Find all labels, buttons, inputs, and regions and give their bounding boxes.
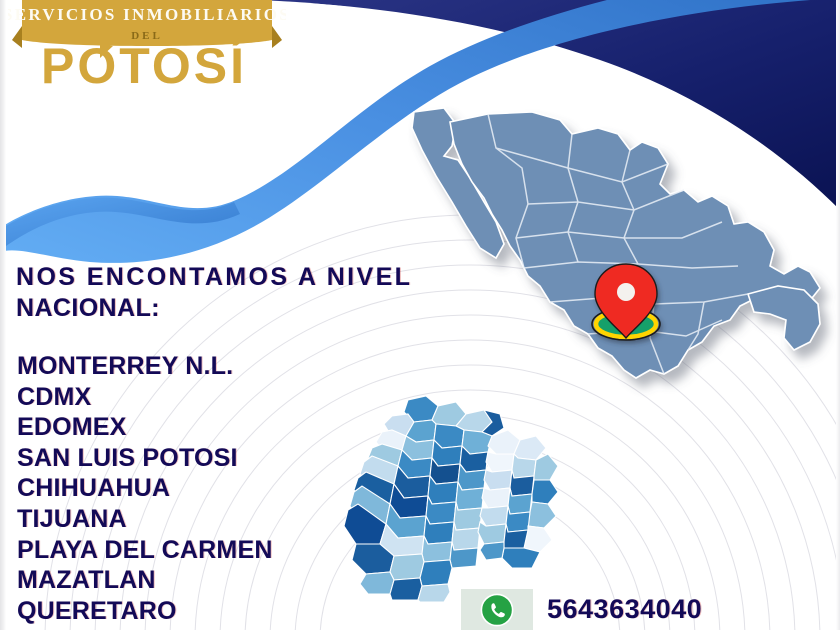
headline-line-1: NOS ENCONTAMOS A NIVEL	[16, 262, 412, 293]
city-list-item: EDOMEX	[17, 412, 273, 443]
logo-ribbon-fold-right	[272, 26, 282, 48]
page-left-edge	[0, 0, 6, 630]
logo-ribbon-fold-left	[12, 26, 22, 48]
logo-name-text: POTOSÍ	[41, 38, 247, 88]
brand-logo: SERVICIOS INMOBILIARIOS DEL POTOSÍ	[8, 0, 286, 88]
whatsapp-contact-block[interactable]: 5643634040	[461, 589, 702, 630]
city-list-item: CHIHUAHUA	[17, 473, 273, 504]
whatsapp-icon-chip[interactable]	[461, 589, 533, 630]
headline-block: NOS ENCONTAMOS A NIVEL NACIONAL:	[16, 262, 412, 324]
san-luis-potosi-choropleth	[336, 392, 571, 607]
city-list-item: TIJUANA	[17, 504, 273, 535]
mexico-national-map	[392, 98, 840, 428]
location-pin-marker	[592, 264, 660, 340]
page-right-edge	[836, 0, 840, 630]
whatsapp-icon[interactable]	[480, 593, 514, 627]
poster-canvas: SERVICIOS INMOBILIARIOS DEL POTOSÍ	[0, 0, 840, 630]
city-list-item: PLAYA DEL CARMEN	[17, 535, 273, 566]
city-list-item: SAN LUIS POTOSI	[17, 443, 273, 474]
city-list-item: MAZATLAN	[17, 565, 273, 596]
map-state-yucatan	[748, 286, 820, 350]
city-list-item: MONTERREY N.L.	[17, 351, 273, 382]
headline-line-2: NACIONAL:	[16, 293, 412, 324]
city-list-item: BAJA CALIFORNIA	[17, 626, 273, 630]
pin-hole	[617, 283, 635, 301]
city-list-item: CDMX	[17, 382, 273, 413]
choropleth-municipalities	[344, 396, 558, 602]
logo-ribbon-text: SERVICIOS INMOBILIARIOS	[8, 5, 286, 24]
phone-number[interactable]: 5643634040	[547, 594, 702, 625]
city-list: MONTERREY N.L. CDMX EDOMEX SAN LUIS POTO…	[17, 351, 273, 630]
city-list-item: QUERETARO	[17, 596, 273, 627]
